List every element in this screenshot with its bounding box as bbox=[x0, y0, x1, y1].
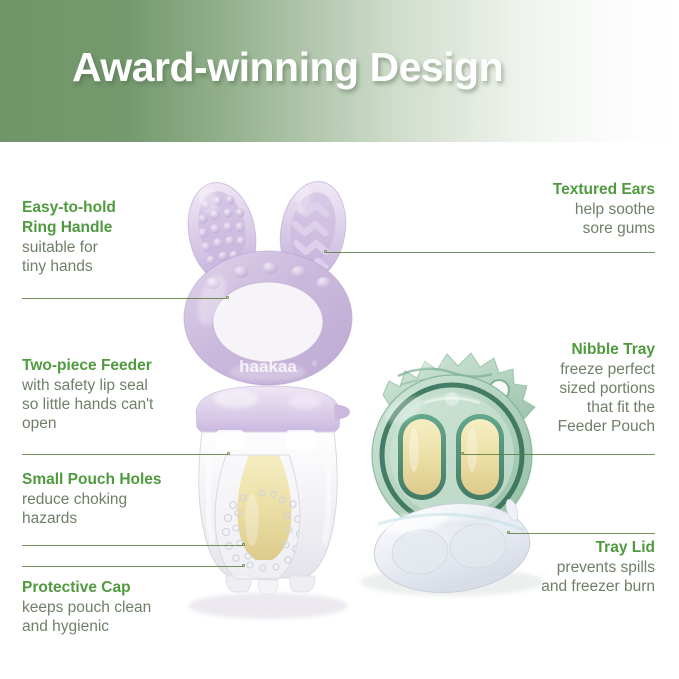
brand-trademark: ® bbox=[312, 360, 318, 368]
callout-protective-cap-body-line2: and hygienic bbox=[22, 617, 151, 636]
callout-tray-lid-title: Tray Lid bbox=[425, 538, 655, 557]
infographic-canvas: haakaa ® bbox=[0, 0, 679, 679]
callout-two-piece-feeder-body-line3: open bbox=[22, 414, 153, 433]
fresh-food-feeder bbox=[196, 386, 350, 594]
callout-small-pouch-holes-body-line1: reduce choking bbox=[22, 490, 162, 509]
connector-ring-handle bbox=[22, 298, 227, 299]
connector-dot-icon bbox=[226, 296, 229, 299]
page-title: Award-winning Design bbox=[72, 44, 503, 91]
callout-two-piece-feeder-body-line2: so little hands can't bbox=[22, 395, 153, 414]
callout-tray-lid-body-line1: prevents spills bbox=[425, 558, 655, 577]
callout-ring-handle-title-line2: Ring Handle bbox=[22, 218, 116, 237]
connector-tray-lid bbox=[509, 533, 655, 534]
callout-ring-handle-body-line1: suitable for bbox=[22, 238, 116, 257]
callout-nibble-tray-body-line3: that fit the bbox=[425, 398, 655, 417]
callout-small-pouch-holes-title: Small Pouch Holes bbox=[22, 470, 162, 489]
callout-two-piece-feeder-body-line1: with safety lip seal bbox=[22, 376, 153, 395]
callout-textured-ears-title: Textured Ears bbox=[425, 180, 655, 199]
callout-nibble-tray-title: Nibble Tray bbox=[425, 340, 655, 359]
callout-two-piece-feeder: Two-piece Feeder with safety lip seal so… bbox=[22, 356, 153, 433]
callout-tray-lid: Tray Lid prevents spills and freezer bur… bbox=[425, 538, 655, 596]
callout-protective-cap: Protective Cap keeps pouch clean and hyg… bbox=[22, 578, 151, 636]
callout-protective-cap-title: Protective Cap bbox=[22, 578, 151, 597]
feeder-pouch bbox=[215, 452, 303, 579]
connector-nibble-tray bbox=[463, 454, 655, 455]
connector-dot-icon bbox=[227, 452, 230, 455]
teether-ring-handle: haakaa ® bbox=[184, 251, 352, 385]
callout-small-pouch-holes: Small Pouch Holes reduce choking hazards bbox=[22, 470, 162, 528]
bunny-ear-ring-teether: haakaa ® bbox=[180, 176, 353, 385]
callout-textured-ears-body-line2: sore gums bbox=[425, 219, 655, 238]
callout-nibble-tray-body-line4: Feeder Pouch bbox=[425, 417, 655, 436]
callout-ring-handle-title-line1: Easy-to-hold bbox=[22, 198, 116, 217]
callout-nibble-tray: Nibble Tray freeze perfect sized portion… bbox=[425, 340, 655, 436]
feeder-lip-tab bbox=[334, 404, 350, 420]
callout-two-piece-feeder-title: Two-piece Feeder bbox=[22, 356, 153, 375]
connector-dot-icon bbox=[242, 543, 245, 546]
connector-dot-icon bbox=[461, 452, 464, 455]
callout-nibble-tray-body-line2: sized portions bbox=[425, 379, 655, 398]
callout-textured-ears-body-line1: help soothe bbox=[425, 200, 655, 219]
callout-ring-handle-body-line2: tiny hands bbox=[22, 257, 116, 276]
callout-tray-lid-body-line2: and freezer burn bbox=[425, 577, 655, 596]
connector-small-pouch-holes bbox=[22, 545, 243, 546]
callout-ring-handle: Easy-to-hold Ring Handle suitable for ti… bbox=[22, 198, 116, 276]
connector-dot-icon bbox=[242, 564, 245, 567]
connector-two-piece-feeder bbox=[22, 454, 228, 455]
callout-protective-cap-body-line1: keeps pouch clean bbox=[22, 598, 151, 617]
connector-dot-icon bbox=[324, 250, 327, 253]
callout-small-pouch-holes-body-line2: hazards bbox=[22, 509, 162, 528]
callout-textured-ears: Textured Ears help soothe sore gums bbox=[425, 180, 655, 238]
callout-nibble-tray-body-line1: freeze perfect bbox=[425, 360, 655, 379]
brand-logo-teether: haakaa bbox=[239, 357, 297, 376]
connector-textured-ears bbox=[326, 252, 655, 253]
connector-protective-cap bbox=[22, 566, 243, 567]
connector-dot-icon bbox=[507, 531, 510, 534]
